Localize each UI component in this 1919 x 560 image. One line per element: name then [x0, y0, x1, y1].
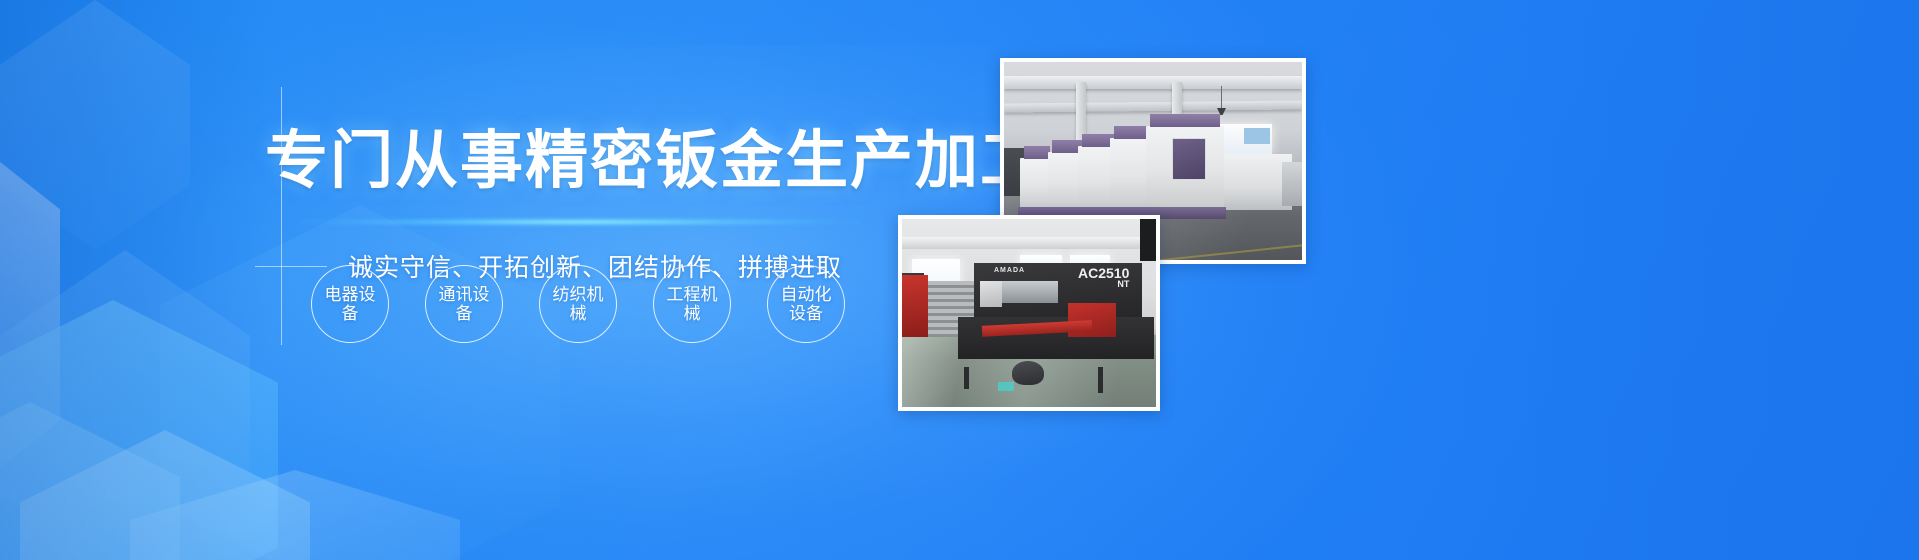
category-badge-list: 电器设备 通讯设备 纺织机械 工程机械 自动化设备: [311, 265, 845, 343]
banner-headline: 专门从事精密钣金生产加工: [265, 110, 1085, 201]
shadow-area: [1140, 219, 1156, 261]
machine-model-variant: NT: [1078, 280, 1129, 289]
category-badge-automation-equipment[interactable]: 自动化设备: [767, 265, 845, 343]
cnc-machine-front: [1146, 126, 1224, 208]
machine-control-panel: [980, 281, 1002, 307]
workshop-window: [1244, 128, 1270, 144]
photo-amada-turret-punch-press: AMADA AC2510 NT: [898, 215, 1160, 411]
category-badge-communication-equipment[interactable]: 通讯设备: [425, 265, 503, 343]
badge-label: 通讯设备: [435, 285, 493, 323]
ceiling-beam: [902, 237, 1156, 249]
badge-label: 工程机械: [663, 285, 721, 323]
machine-motor: [1012, 361, 1044, 385]
badge-label: 电器设备: [321, 285, 379, 323]
machine-window: [1002, 281, 1058, 303]
category-badge-textile-machinery[interactable]: 纺织机械: [539, 265, 617, 343]
category-badge-electrical-equipment[interactable]: 电器设备: [311, 265, 389, 343]
lamp-rod: [1221, 86, 1222, 109]
red-control-column: [902, 275, 928, 337]
cnc-machine: [1212, 154, 1292, 210]
photo-image: AMADA AC2510 NT: [902, 219, 1156, 407]
headline-glow-underline: [300, 218, 860, 226]
ceiling-beam: [1004, 76, 1302, 89]
machine-brand-label: AMADA: [994, 267, 1025, 274]
machine-leg: [964, 367, 969, 389]
workpiece-tray: [998, 382, 1014, 391]
promotional-banner: 专门从事精密钣金生产加工 诚实守信、开拓创新、团结协作、拼搏进取 电器设备 通讯…: [0, 0, 1919, 560]
machine-door-panel: [1172, 138, 1206, 180]
cnc-machine: [1282, 162, 1302, 206]
badge-label: 纺织机械: [549, 285, 607, 323]
badge-label: 自动化设备: [777, 285, 835, 323]
machine-model-label: AC2510 NT: [1078, 267, 1129, 289]
category-badge-engineering-machinery[interactable]: 工程机械: [653, 265, 731, 343]
machine-leg: [1098, 367, 1103, 393]
